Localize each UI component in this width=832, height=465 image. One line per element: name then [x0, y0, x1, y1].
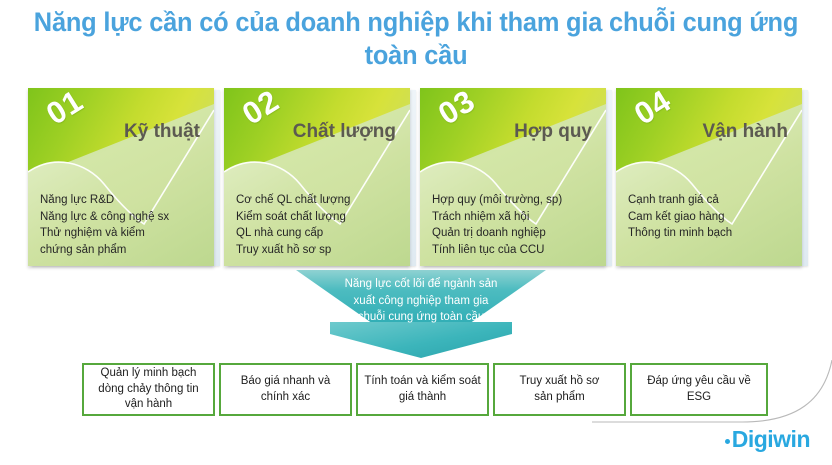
- capability-card-3[interactable]: 03 Hợp quy Hợp quy (môi trường, sp) Trác…: [420, 88, 606, 266]
- card-items-4: Cạnh tranh giá cả Cam kết giao hàng Thôn…: [628, 192, 800, 242]
- card-heading-3: Hợp quy: [472, 120, 592, 144]
- card-heading-4: Vận hành: [668, 120, 788, 144]
- card-heading-1: Kỹ thuật: [80, 120, 200, 144]
- outcome-box-1[interactable]: Quản lý minh bạch dòng chảy thông tin vậ…: [82, 363, 215, 416]
- outcome-box-5[interactable]: Đáp ứng yêu cầu về ESG: [630, 363, 768, 416]
- card-heading-2: Chất lượng: [276, 120, 396, 144]
- capability-card-1[interactable]: 01 Kỹ thuật Năng lực R&D Năng lực & công…: [28, 88, 214, 266]
- funnel-arrow-head: [330, 322, 512, 358]
- outcome-box-3[interactable]: Tính toán và kiểm soát giá thành: [356, 363, 489, 416]
- core-capability-funnel: Năng lực cốt lõi để ngành sản xuất công …: [290, 268, 552, 360]
- outcome-box-4[interactable]: Truy xuất hồ sơ sản phẩm: [493, 363, 626, 416]
- card-items-3: Hợp quy (môi trường, sp) Trách nhiệm xã …: [432, 192, 604, 258]
- outcome-box-2[interactable]: Báo giá nhanh và chính xác: [219, 363, 352, 416]
- page-title: Năng lực cần có của doanh nghiệp khi tha…: [25, 6, 807, 72]
- card-items-1: Năng lực R&D Năng lực & công nghệ sx Thử…: [40, 192, 212, 258]
- capability-card-2[interactable]: 02 Chất lượng Cơ chế QL chất lượng Kiểm …: [224, 88, 410, 266]
- digiwin-logo: Digiwin: [725, 426, 810, 453]
- slide-canvas: Năng lực cần có của doanh nghiệp khi tha…: [0, 0, 832, 465]
- logo-dot-icon: [725, 439, 730, 444]
- capability-card-4[interactable]: 04 Vận hành Cạnh tranh giá cả Cam kết gi…: [616, 88, 802, 266]
- card-items-2: Cơ chế QL chất lượng Kiểm soát chất lượn…: [236, 192, 408, 258]
- funnel-label: Năng lực cốt lõi để ngành sản xuất công …: [290, 276, 552, 326]
- logo-wordmark: Digiwin: [732, 426, 810, 453]
